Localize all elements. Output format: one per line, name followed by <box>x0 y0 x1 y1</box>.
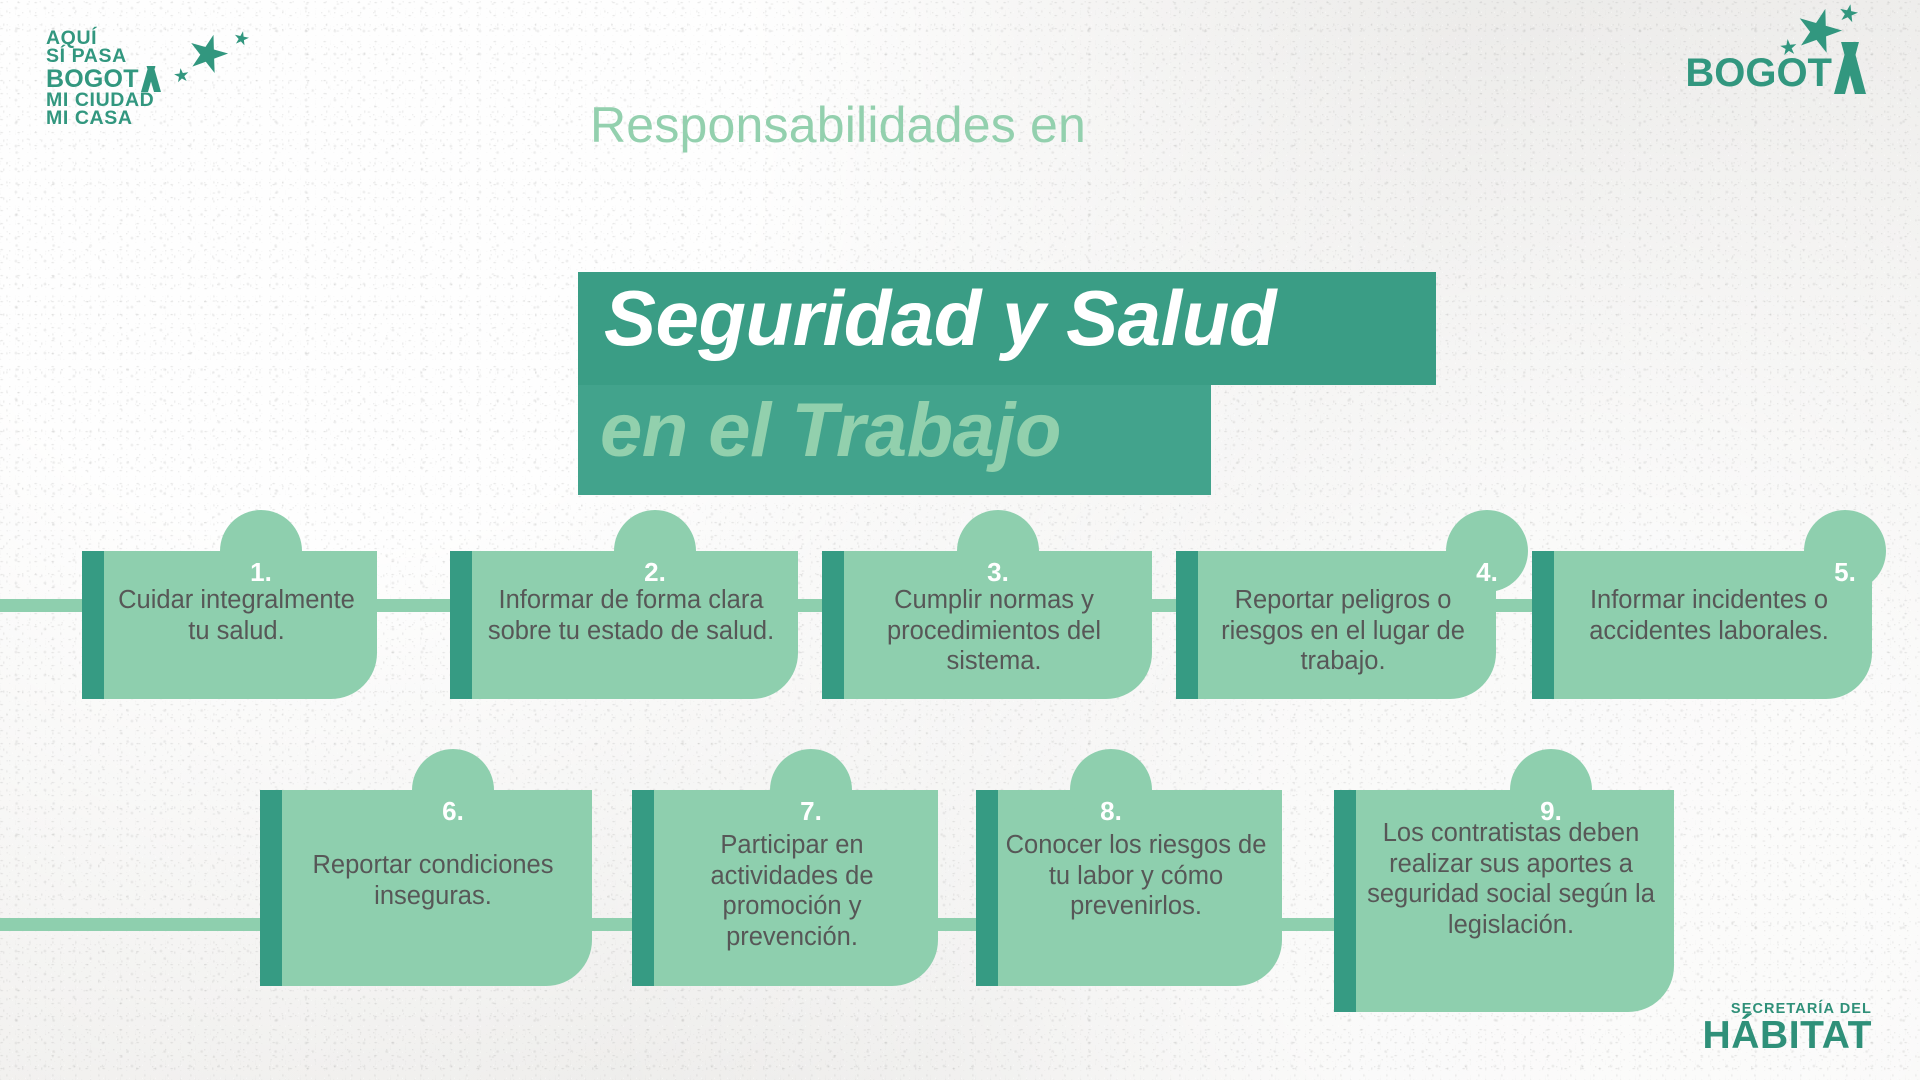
bogota-a-glyph <box>139 66 165 92</box>
logo-line-habitat: HÁBITAT <box>1702 1017 1872 1054</box>
secretaria-habitat-logo: SECRETARÍA DEL HÁBITAT <box>1702 1001 1872 1054</box>
bogota-wordmark: BOGOT <box>1685 51 1832 95</box>
step-number: 6. <box>442 798 464 831</box>
step-text: Participar en actividades de promoción y… <box>654 830 930 952</box>
connector-line-4-5 <box>1493 599 1535 612</box>
card-accent-bar <box>450 551 472 699</box>
step-text: Informar incidentes o accidentes laboral… <box>1554 585 1864 646</box>
star-icon <box>1796 8 1842 54</box>
step-text: Reportar peligros o riesgos en el lugar … <box>1198 585 1488 677</box>
step-number-badge: 7. <box>770 749 852 831</box>
step-number-badge: 6. <box>412 749 494 831</box>
step-card-2[interactable]: 2. Informar de forma clara sobre tu esta… <box>450 551 798 699</box>
connector-line-6-7 <box>590 918 634 931</box>
connector-line-row1-left <box>0 599 86 612</box>
step-card-8[interactable]: 8. Conocer los riesgos de tu labor y cóm… <box>976 790 1282 986</box>
connector-line-7-8 <box>936 918 978 931</box>
step-text: Los contratistas deben realizar sus apor… <box>1356 818 1666 940</box>
card-accent-bar <box>1176 551 1198 699</box>
bogota-logo-top-right: BOGOT <box>1685 52 1874 94</box>
card-accent-bar <box>1334 790 1356 1012</box>
star-icon <box>188 34 228 74</box>
connector-line-1-2 <box>372 599 454 612</box>
star-small-icon <box>1780 39 1797 56</box>
logo-line-micasa: MI CASA <box>46 110 165 128</box>
step-number-badge: 1. <box>220 510 302 592</box>
star-small-icon <box>174 68 189 83</box>
step-number-badge: 8. <box>1070 749 1152 831</box>
step-card-3[interactable]: 3. Cumplir normas y procedimientos del s… <box>822 551 1152 699</box>
campaign-logo-top-left: AQUÍ SÍ PASA BOGOT MI CIUDAD MI CASA <box>46 30 165 128</box>
step-number-badge: 4. <box>1446 510 1528 592</box>
bogota-a-glyph <box>1832 52 1874 94</box>
star-small-icon <box>234 31 249 46</box>
card-accent-bar <box>82 551 104 699</box>
card-accent-bar <box>976 790 998 986</box>
card-accent-bar <box>1532 551 1554 699</box>
connector-line-8-9 <box>1280 918 1336 931</box>
step-card-6[interactable]: 6. Reportar condiciones inseguras. <box>260 790 592 986</box>
step-number: 8. <box>1100 798 1122 831</box>
step-text: Conocer los riesgos de tu labor y cómo p… <box>998 830 1274 922</box>
card-accent-bar <box>260 790 282 986</box>
step-number-badge: 2. <box>614 510 696 592</box>
logo-line-sipasa: SÍ PASA <box>46 48 165 66</box>
step-text: Informar de forma clara sobre tu estado … <box>472 585 790 646</box>
step-card-7[interactable]: 7. Participar en actividades de promoció… <box>632 790 938 986</box>
step-text: Cuidar integralmente tu salud. <box>104 585 369 646</box>
step-card-9[interactable]: 9. Los contratistas deben realizar sus a… <box>1334 790 1674 1012</box>
title-line-1: Responsabilidades en <box>590 96 1086 154</box>
step-text: Cumplir normas y procedimientos del sist… <box>844 585 1144 677</box>
step-number-badge: 5. <box>1804 510 1886 592</box>
step-text: Reportar condiciones inseguras. <box>282 850 584 911</box>
card-accent-bar <box>822 551 844 699</box>
title-line-3: en el Trabajo <box>600 390 1061 472</box>
star-small-icon <box>1839 4 1858 23</box>
title-line-2: Seguridad y Salud <box>604 276 1276 360</box>
step-card-5[interactable]: 5. Informar incidentes o accidentes labo… <box>1532 551 1872 699</box>
step-number-badge: 3. <box>957 510 1039 592</box>
step-card-1[interactable]: 1. Cuidar integralmente tu salud. <box>82 551 377 699</box>
step-number: 7. <box>800 798 822 831</box>
step-card-4[interactable]: 4. Reportar peligros o riesgos en el lug… <box>1176 551 1496 699</box>
card-accent-bar <box>632 790 654 986</box>
connector-line-row2-left <box>0 918 264 931</box>
